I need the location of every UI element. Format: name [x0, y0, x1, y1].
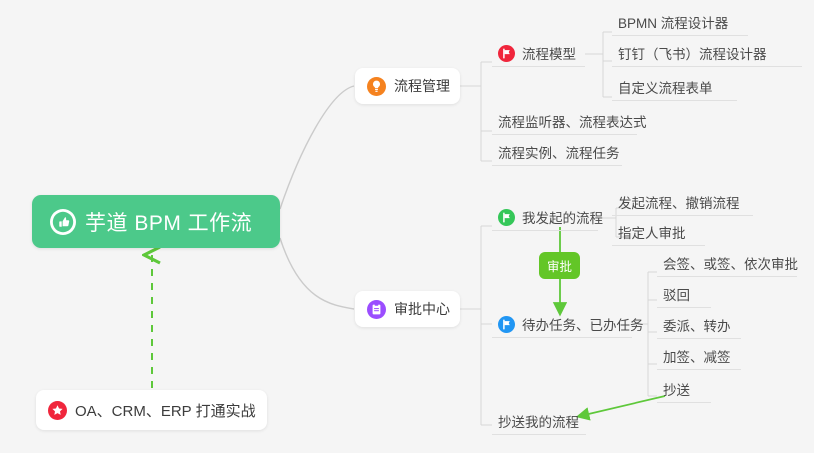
- node-process-instance[interactable]: 流程实例、流程任务: [492, 139, 622, 166]
- lightbulb-icon: [367, 77, 386, 96]
- node-process-model[interactable]: 流程模型: [492, 40, 585, 67]
- node-process-listener[interactable]: 流程监听器、流程表达式: [492, 108, 637, 135]
- node-delegate-transfer[interactable]: 委派、转办: [657, 312, 741, 339]
- approval-tag: 审批: [539, 252, 580, 279]
- node-oa-integration-label: OA、CRM、ERP 打通实战: [75, 400, 256, 421]
- node-bpmn-designer[interactable]: BPMN 流程设计器: [612, 9, 748, 36]
- node-cc-to-me[interactable]: 抄送我的流程: [492, 408, 586, 435]
- node-start-cancel-process-label: 发起流程、撤销流程: [618, 192, 740, 212]
- node-my-started-process-label: 我发起的流程: [522, 207, 603, 227]
- root-label: 芋道 BPM 工作流: [85, 207, 252, 237]
- node-add-remove-sign[interactable]: 加签、减签: [657, 343, 741, 370]
- node-cc-to-me-label: 抄送我的流程: [498, 411, 579, 431]
- node-dingtalk-designer-label: 钉钉（飞书）流程设计器: [618, 43, 767, 63]
- node-reject-label: 驳回: [663, 284, 690, 304]
- node-countersign-label: 会签、或签、依次审批: [663, 253, 798, 273]
- flag-icon: [498, 45, 515, 62]
- star-icon: [48, 401, 67, 420]
- node-assignee-approval-label: 指定人审批: [618, 222, 686, 242]
- node-my-started-process[interactable]: 我发起的流程: [492, 204, 598, 231]
- node-delegate-transfer-label: 委派、转办: [663, 315, 731, 335]
- node-dingtalk-designer[interactable]: 钉钉（飞书）流程设计器: [612, 40, 802, 67]
- node-cc[interactable]: 抄送: [657, 376, 711, 403]
- node-custom-form[interactable]: 自定义流程表单: [612, 74, 737, 101]
- form-icon: [367, 300, 386, 319]
- node-add-remove-sign-label: 加签、减签: [663, 346, 731, 366]
- wire-root-to-approval-center: [280, 238, 354, 309]
- node-todo-done-tasks-label: 待办任务、已办任务: [522, 314, 644, 334]
- node-process-instance-label: 流程实例、流程任务: [498, 142, 620, 162]
- thumbs-up-icon: [50, 209, 76, 235]
- node-todo-done-tasks[interactable]: 待办任务、已办任务: [492, 311, 632, 338]
- node-process-management[interactable]: 流程管理: [355, 68, 460, 104]
- node-start-cancel-process[interactable]: 发起流程、撤销流程: [612, 189, 753, 216]
- node-countersign[interactable]: 会签、或签、依次审批: [657, 250, 797, 277]
- node-cc-label: 抄送: [663, 379, 690, 399]
- node-oa-integration[interactable]: OA、CRM、ERP 打通实战: [36, 390, 267, 430]
- node-reject[interactable]: 驳回: [657, 281, 711, 308]
- node-process-management-label: 流程管理: [394, 76, 450, 96]
- node-custom-form-label: 自定义流程表单: [618, 77, 713, 97]
- root-node[interactable]: 芋道 BPM 工作流: [32, 195, 280, 248]
- wire-root-to-process-management: [280, 86, 354, 209]
- node-assignee-approval[interactable]: 指定人审批: [612, 219, 705, 246]
- approval-tag-label: 审批: [547, 256, 572, 275]
- flag-icon: [498, 316, 515, 333]
- node-approval-center-label: 审批中心: [394, 299, 450, 319]
- node-bpmn-designer-label: BPMN 流程设计器: [618, 12, 728, 32]
- node-process-listener-label: 流程监听器、流程表达式: [498, 111, 647, 131]
- arrow-cc-flow: [580, 396, 665, 416]
- node-approval-center[interactable]: 审批中心: [355, 291, 460, 327]
- mindmap-canvas: 芋道 BPM 工作流 流程管理 流程模型 BPMN 流程设计器 钉钉（飞书: [0, 0, 814, 453]
- node-process-model-label: 流程模型: [522, 43, 576, 63]
- flag-icon: [498, 209, 515, 226]
